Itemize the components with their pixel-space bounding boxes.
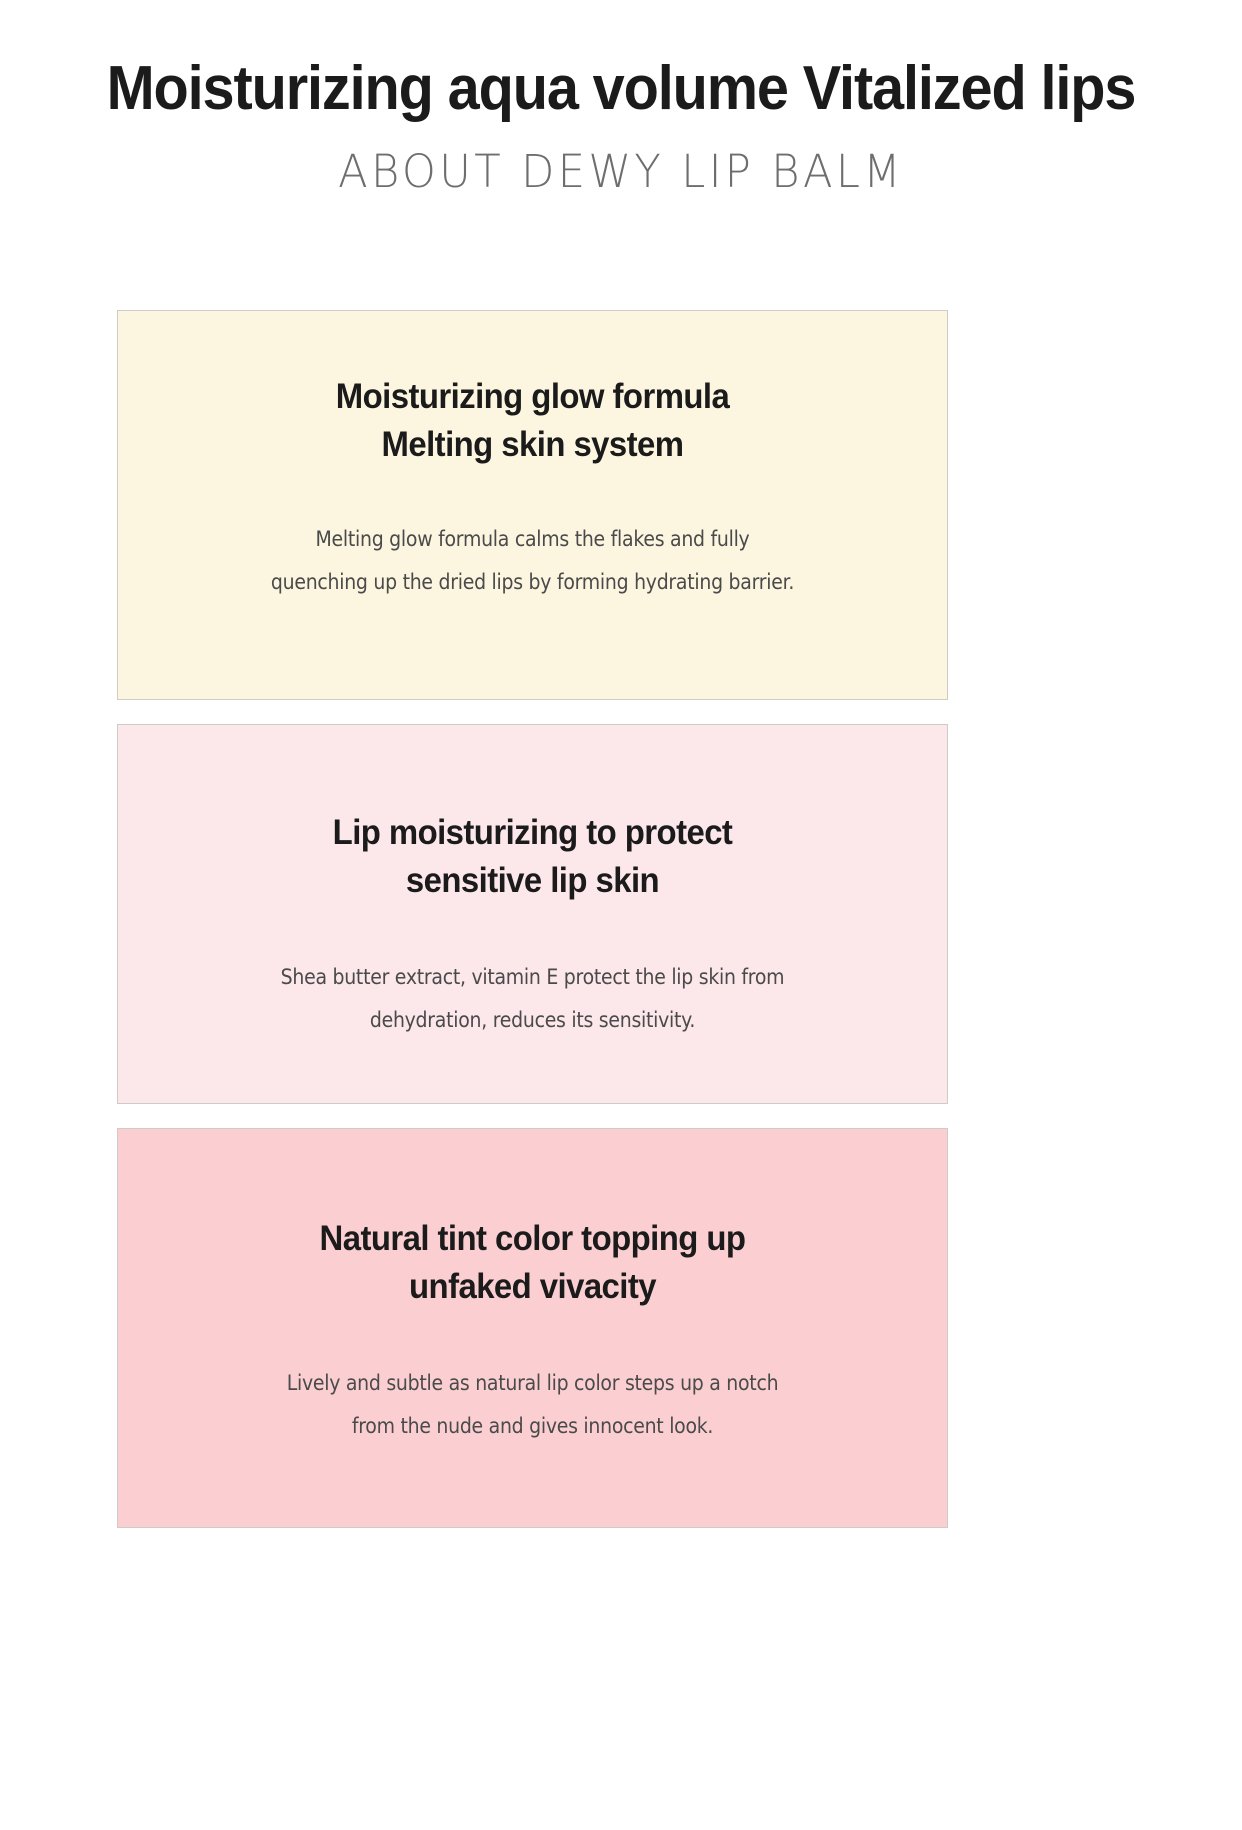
page-title: Moisturizing aqua volume Vitalized lips <box>43 56 1198 121</box>
feature-card-natural-tint-color: Natural tint color topping up unfaked vi… <box>117 1128 948 1528</box>
feature-card-heading: Natural tint color topping up unfaked vi… <box>143 1129 922 1312</box>
page-header: Moisturizing aqua volume Vitalized lips … <box>0 0 1242 197</box>
feature-card-heading: Moisturizing glow formula Melting skin s… <box>143 311 922 470</box>
feature-card-lip-moisturizing-protect: Lip moisturizing to protect sensitive li… <box>117 724 948 1104</box>
feature-card-moisturizing-glow-formula: Moisturizing glow formula Melting skin s… <box>117 310 948 700</box>
product-description-page: Moisturizing aqua volume Vitalized lips … <box>0 0 1242 1830</box>
feature-card-body: Shea butter extract, vitamin E protect t… <box>159 906 905 1042</box>
feature-card-heading: Lip moisturizing to protect sensitive li… <box>143 725 922 906</box>
feature-card-body: Lively and subtle as natural lip color s… <box>159 1312 905 1448</box>
feature-card-list: Moisturizing glow formula Melting skin s… <box>117 310 948 1528</box>
feature-card-body: Melting glow formula calms the flakes an… <box>159 470 905 604</box>
page-subtitle: ABOUT DEWY LIP BALM <box>25 147 1217 197</box>
